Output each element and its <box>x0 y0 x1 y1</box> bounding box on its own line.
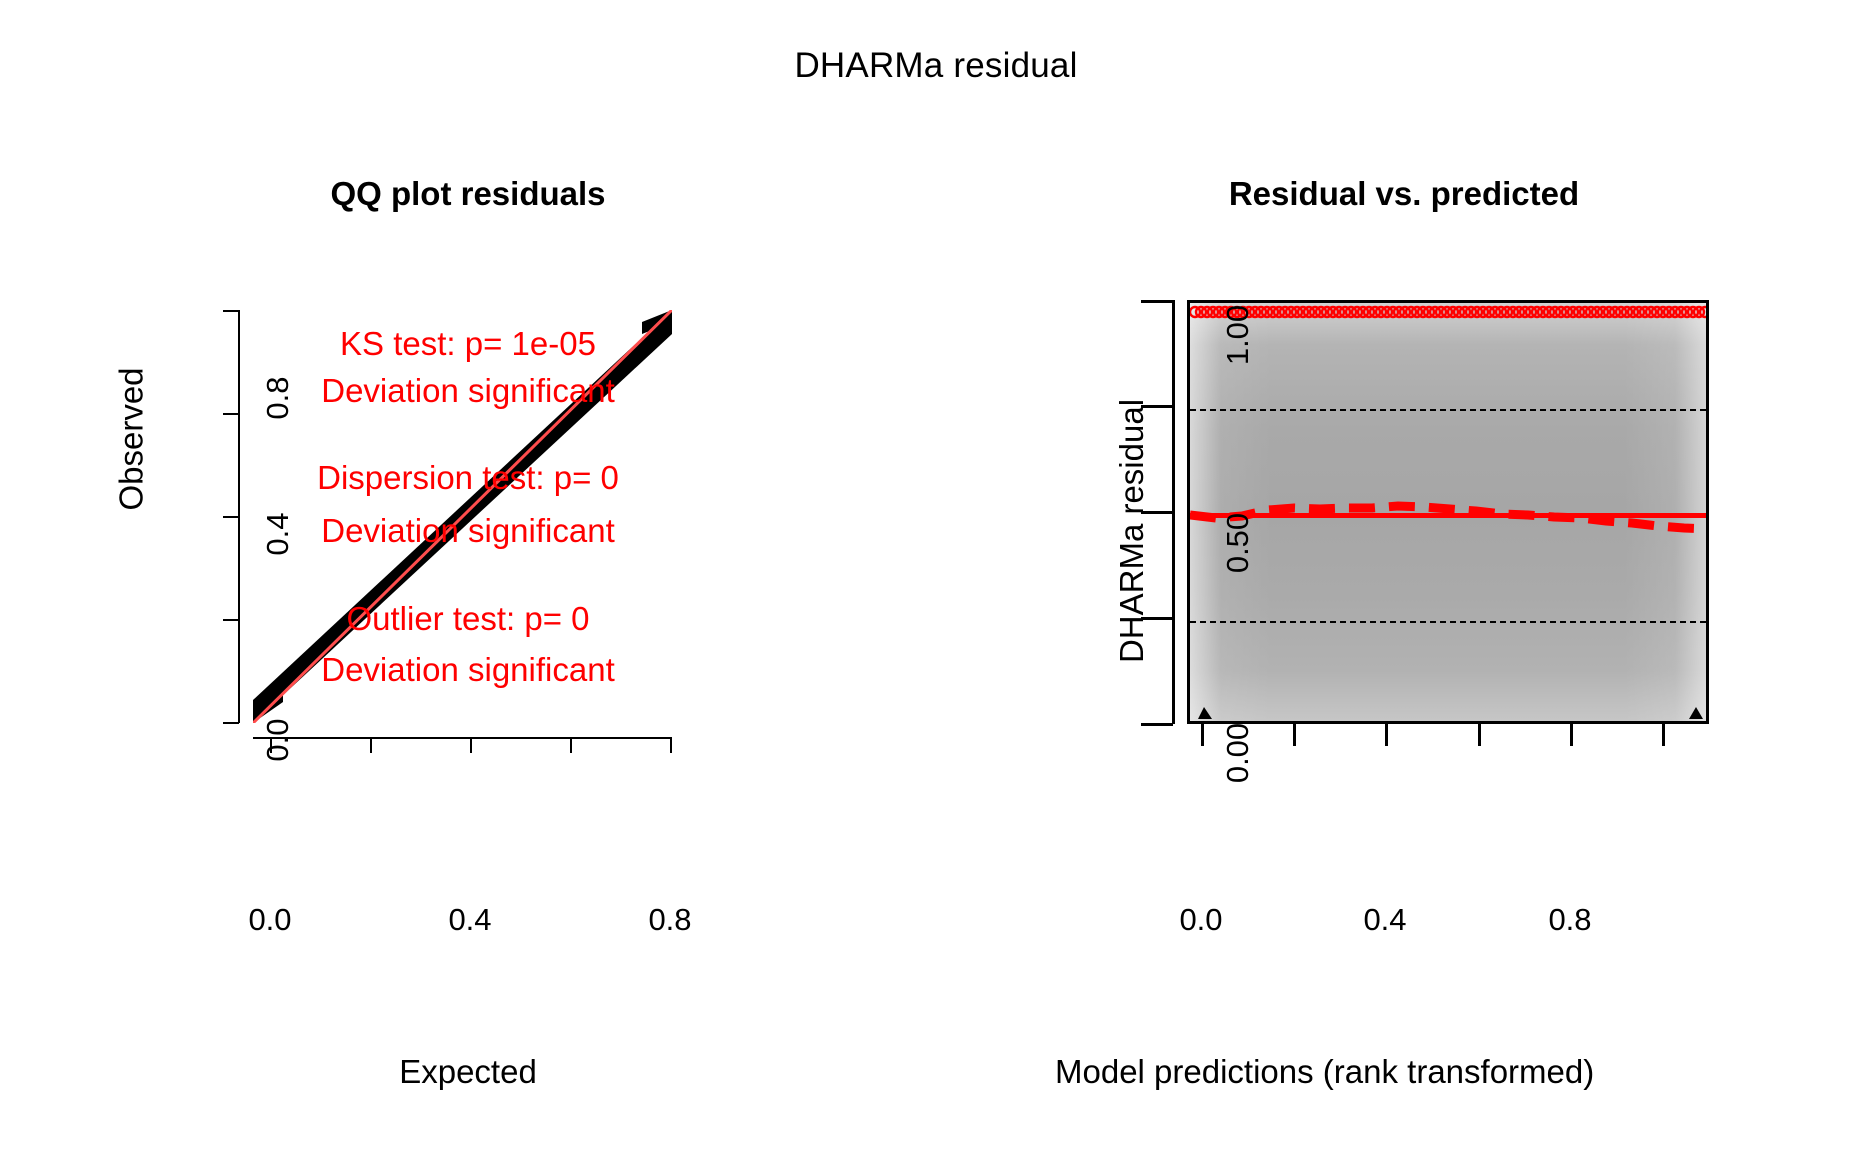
rvp-x-tick-3 <box>1478 724 1481 746</box>
rvp-y-label-100: 1.00 <box>1220 280 1256 390</box>
qq-annotation-outlier-verdict: Deviation significant <box>0 651 936 689</box>
qq-x-tick-0 <box>270 737 272 753</box>
qq-x-tick-1 <box>370 737 372 753</box>
qq-annotation-ks-verdict: Deviation significant <box>0 372 936 410</box>
qq-x-label-0: 0.0 <box>225 902 315 938</box>
qq-x-label-2: 0.8 <box>625 902 715 938</box>
qq-x-tick-2 <box>470 737 472 753</box>
qq-annotation-outlier-pvalue: Outlier test: p= 0 <box>0 600 936 638</box>
qq-y-tick-4 <box>223 310 239 312</box>
rvp-x-label-2: 0.8 <box>1525 902 1615 938</box>
qq-annotation-dispersion-verdict: Deviation significant <box>0 512 936 550</box>
rvp-x-tick-4 <box>1570 724 1573 746</box>
qq-x-tick-4 <box>670 737 672 753</box>
rvp-x-tick-2 <box>1385 724 1388 746</box>
rvp-panel-title: Residual vs. predicted <box>936 175 1872 213</box>
rvp-y-axis-title: DHARMa residual <box>1113 399 1151 663</box>
rvp-y-tick-100 <box>1141 300 1173 303</box>
rvp-x-tick-0 <box>1201 724 1204 746</box>
qq-x-label-1: 0.4 <box>425 902 515 938</box>
rvp-y-tick-000 <box>1141 723 1173 726</box>
rvp-outlier-markers <box>1190 303 1709 724</box>
rvp-y-label-000: 0.00 <box>1220 698 1256 808</box>
qq-y-tick-3 <box>223 413 239 415</box>
qq-x-axis-line <box>253 737 672 739</box>
qq-panel-title: QQ plot residuals <box>0 175 936 213</box>
qq-annotation-ks-pvalue: KS test: p= 1e-05 <box>0 325 936 363</box>
rvp-x-tick-1 <box>1293 724 1296 746</box>
qq-annotation-dispersion-pvalue: Dispersion test: p= 0 <box>0 459 936 497</box>
rvp-y-label-050: 0.50 <box>1220 488 1256 598</box>
qq-y-label-0: 0.0 <box>260 705 296 775</box>
rvp-plot-area <box>1187 300 1709 724</box>
qq-x-axis-title: Expected <box>0 1053 936 1091</box>
rvp-x-label-0: 0.0 <box>1156 902 1246 938</box>
qq-y-tick-0 <box>223 722 239 724</box>
qq-x-tick-3 <box>570 737 572 753</box>
rvp-x-tick-5 <box>1662 724 1665 746</box>
rvp-x-label-1: 0.4 <box>1340 902 1430 938</box>
rvp-x-axis-title: Model predictions (rank transformed) <box>1055 1053 1594 1091</box>
